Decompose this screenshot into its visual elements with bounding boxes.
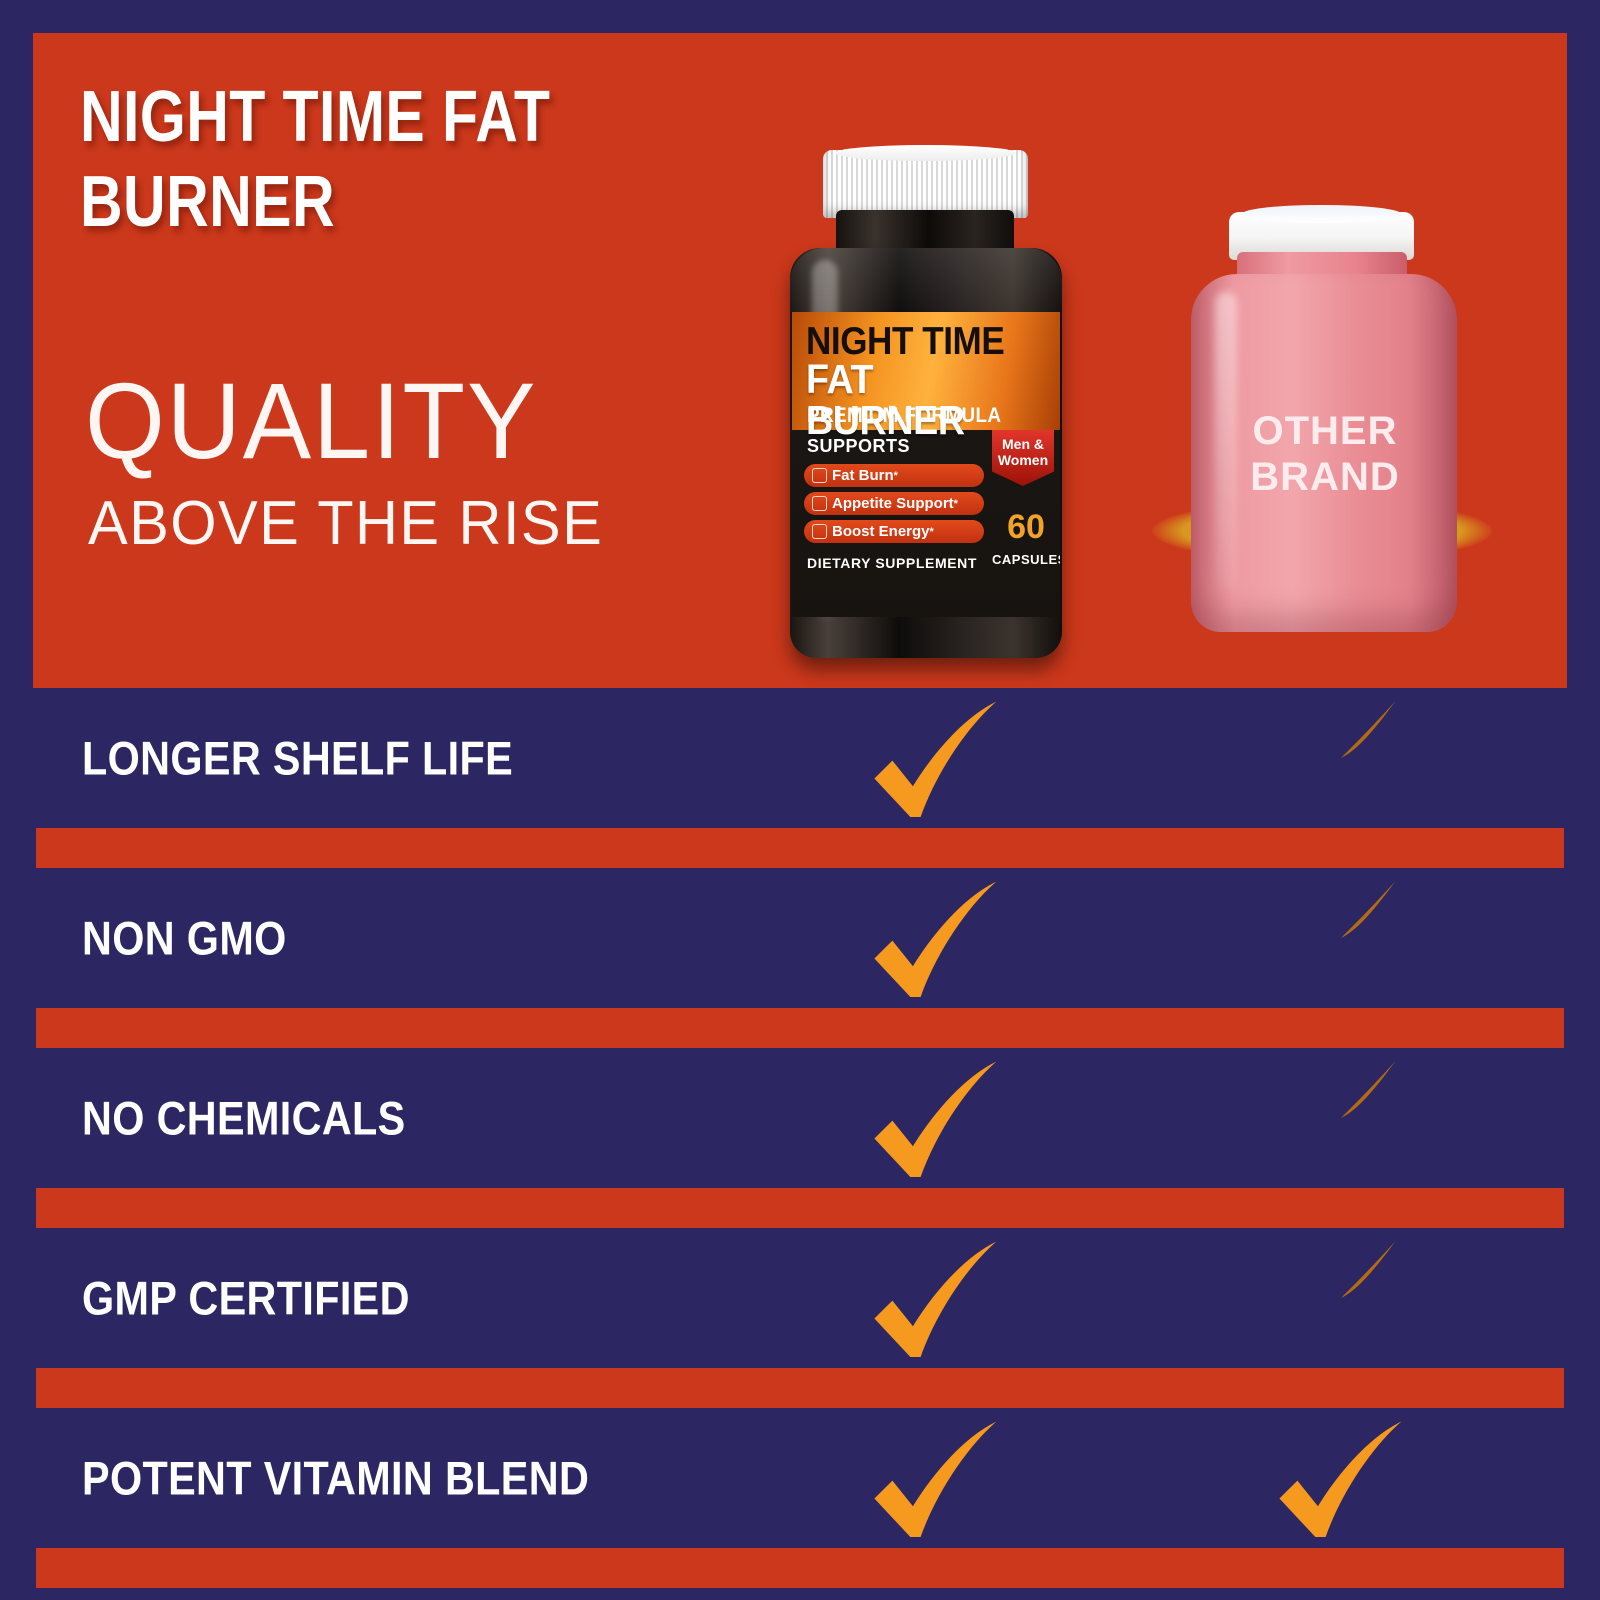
cross-icon <box>1276 1059 1406 1177</box>
header-panel: NIGHT TIME FAT BURNER QUALITY ABOVE THE … <box>33 33 1567 688</box>
competitor-mark <box>1276 1419 1406 1537</box>
capsule-count-unit: CAPSULES <box>992 552 1060 567</box>
check-icon <box>871 1059 1001 1177</box>
competitor-mark <box>1276 1239 1406 1357</box>
row-divider <box>36 828 1564 868</box>
row-divider <box>36 1548 1564 1588</box>
feature-label: NON GMO <box>82 911 287 966</box>
feature-label: GMP CERTIFIED <box>82 1271 410 1326</box>
bottle-cap <box>823 150 1028 218</box>
label-supports-heading: SUPPORTS <box>807 436 910 457</box>
benefit-pill: Fat Burn* <box>804 464 984 487</box>
audience-badge: Men & Women <box>992 430 1054 486</box>
row-divider <box>36 1008 1564 1048</box>
benefit-label: Appetite Support <box>832 495 954 512</box>
product-bottle: NIGHT TIME FAT BURNER PREMIUM FORMULA SU… <box>778 150 1073 660</box>
competitor-line2: BRAND <box>1250 455 1399 499</box>
competitor-bottle: OTHER BRAND <box>1185 212 1465 642</box>
benefit-asterisk: * <box>930 526 934 538</box>
feature-label: LONGER SHELF LIFE <box>82 731 513 786</box>
quality-subheadline: ABOVE THE RISE <box>88 488 603 559</box>
flame-icon <box>812 468 827 483</box>
label-dietary-supplement: DIETARY SUPPLEMENT <box>807 555 977 571</box>
competitor-mark <box>1276 1059 1406 1177</box>
benefit-pill: Boost Energy* <box>804 520 984 543</box>
row-divider <box>36 1188 1564 1228</box>
cross-icon <box>1276 879 1406 997</box>
competitor-line1: OTHER <box>1253 409 1398 453</box>
check-icon <box>871 879 1001 997</box>
table-row: GMP CERTIFIED <box>36 1228 1564 1368</box>
label-brand-line2: FAT BURNER <box>806 359 1040 441</box>
quality-headline: QUALITY <box>85 358 537 483</box>
infographic-root: NIGHT TIME FAT BURNER QUALITY ABOVE THE … <box>0 0 1600 1600</box>
benefit-asterisk: * <box>954 498 958 510</box>
our-product-mark <box>871 879 1001 997</box>
table-row: LONGER SHELF LIFE <box>36 688 1564 828</box>
our-product-mark <box>871 1059 1001 1177</box>
check-icon <box>871 1239 1001 1357</box>
competitor-bottle-text: OTHER BRAND <box>1185 408 1465 501</box>
benefit-pill: Appetite Support* <box>804 492 984 515</box>
competitor-mark <box>1276 699 1406 817</box>
capsule-count: 60 <box>996 510 1056 544</box>
product-label: NIGHT TIME FAT BURNER PREMIUM FORMULA SU… <box>792 312 1060 617</box>
cross-icon <box>1276 699 1406 817</box>
feature-label: NO CHEMICALS <box>82 1091 406 1146</box>
table-row: NON GMO <box>36 868 1564 1008</box>
benefit-asterisk: * <box>894 470 898 482</box>
benefit-label: Boost Energy <box>832 523 930 540</box>
feature-label: POTENT VITAMIN BLEND <box>82 1451 589 1506</box>
table-row: POTENT VITAMIN BLEND <box>36 1408 1564 1548</box>
check-icon <box>871 699 1001 817</box>
appetite-icon <box>812 496 827 511</box>
benefit-label: Fat Burn <box>832 467 894 484</box>
row-divider <box>36 1368 1564 1408</box>
cross-icon <box>1276 1239 1406 1357</box>
our-product-mark <box>871 1239 1001 1357</box>
label-formula: PREMIUM FORMULA <box>807 404 1001 428</box>
page-title: NIGHT TIME FAT BURNER <box>80 75 605 245</box>
check-icon <box>1276 1419 1406 1537</box>
energy-icon <box>812 524 827 539</box>
our-product-mark <box>871 699 1001 817</box>
our-product-mark <box>871 1419 1001 1537</box>
table-row: NO CHEMICALS <box>36 1048 1564 1188</box>
check-icon <box>871 1419 1001 1537</box>
competitor-mark <box>1276 879 1406 997</box>
